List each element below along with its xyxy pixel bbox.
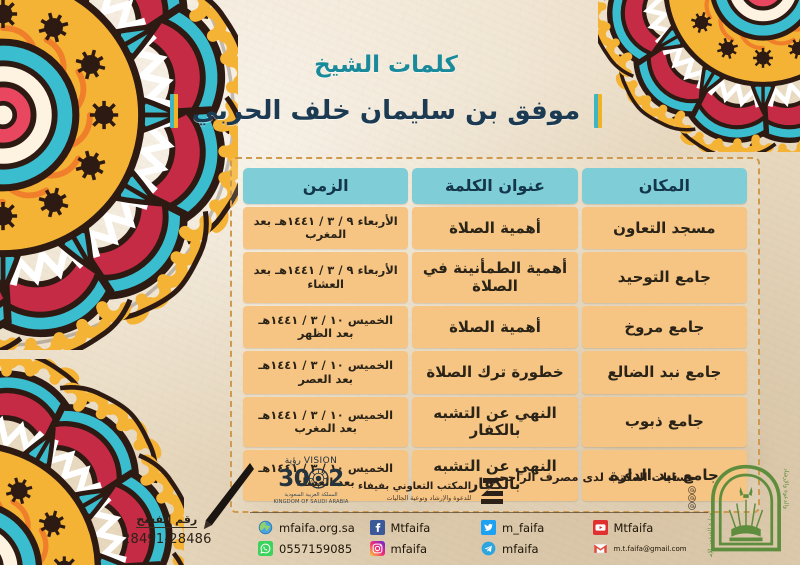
vision-arabic: رؤية xyxy=(285,456,301,466)
whatsapp-icon xyxy=(258,541,273,556)
cell-topic: خطورة ترك الصلاة xyxy=(412,351,577,393)
bank-accounts-block: حسابات المكتب لدى مصرف الراجحي xyxy=(488,470,696,510)
cell-place: جامع التوحيد xyxy=(582,252,747,303)
sheikh-name-row: موفق بن سليمان خلف الحربي xyxy=(0,94,772,128)
gmail-icon xyxy=(593,541,608,556)
social-link-whatsapp[interactable]: 0557159085 xyxy=(258,541,370,556)
social-handle: mfaifa.org.sa xyxy=(279,521,355,535)
footer-divider xyxy=(250,512,708,513)
ministry-of-islamic-affairs-logo: وزارة الشؤون الإسلامية والدعوة والإرشاد xyxy=(700,461,792,557)
vision-2030-logo: VISION رؤية 2 30 xyxy=(268,456,354,507)
bank-account-row xyxy=(488,486,696,494)
table-row: جامع التوحيدأهمية الطمأنينة في الصلاةالأ… xyxy=(243,252,747,303)
vision-emblem-icon xyxy=(308,468,329,489)
vision-kingdom-caption: المملكة العربية السعودية KINGDOM OF SAUD… xyxy=(268,492,354,507)
table-row: مسجد التعاونأهمية الصلاةالأربعاء ٩ / ٣ /… xyxy=(243,207,747,249)
cell-time: الخميس ١٠ / ٣ / ١٤٤١هـ بعد العصر xyxy=(243,351,408,393)
office-description: للدعوة والإرشاد وتوعية الجاليات xyxy=(358,494,471,502)
table-header-row: المكان عنوان الكلمة الزمن xyxy=(243,168,747,204)
cell-time: الأربعاء ٩ / ٣ / ١٤٤١هـ بعد العشاء xyxy=(243,252,408,303)
column-header-place: المكان xyxy=(582,168,747,204)
social-handle: Mtfaifa xyxy=(614,521,654,535)
vision-year-30: 30 xyxy=(278,466,309,492)
social-handle: mfaifa xyxy=(391,542,428,556)
social-link-youtube[interactable]: Mtfaifa xyxy=(593,520,705,535)
cell-time: الأربعاء ٩ / ٣ / ١٤٤١هـ بعد المغرب xyxy=(243,207,408,249)
cell-topic: أهمية الصلاة xyxy=(412,207,577,249)
cell-time: الخميس ١٠ / ٣ / ١٤٤١هـ بعد المغرب xyxy=(243,397,408,448)
social-handle: m_faifa xyxy=(502,521,544,535)
social-links-grid: mfaifa.org.saMtfaifam_faifaMtfaifa055715… xyxy=(258,517,704,559)
vision-kingdom-ar: المملكة العربية السعودية xyxy=(268,492,354,500)
vision-wordmark: VISION رؤية xyxy=(268,456,354,466)
instagram-icon xyxy=(370,541,385,556)
at-sign-icon xyxy=(688,502,696,510)
social-link-gmail[interactable]: m.t.faifa@gmail.com xyxy=(593,541,705,556)
poster-footer: VISION رؤية 2 30 xyxy=(0,453,800,565)
social-link-facebook[interactable]: Mtfaifa xyxy=(370,520,482,535)
bank-account-row xyxy=(488,494,696,502)
social-handle: 0557159085 xyxy=(279,542,352,556)
poster-header: كلمات الشيخ موفق بن سليمان خلف الحربي xyxy=(0,52,800,128)
page-title: موفق بن سليمان خلف الحربي xyxy=(192,96,580,126)
cell-place: جامع مروخ xyxy=(582,306,747,348)
office-text: المكتب التعاوني بفيفاء للدعوة والإرشاد و… xyxy=(358,481,471,502)
at-sign-icon xyxy=(688,494,696,502)
bank-accounts-title: حسابات المكتب لدى مصرف الراجحي xyxy=(488,470,696,484)
facebook-icon xyxy=(370,520,385,535)
social-link-telegram[interactable]: mfaifa xyxy=(481,541,593,556)
cell-place: جامع نبد الضالع xyxy=(582,351,747,393)
vision-year: 2 30 xyxy=(268,466,354,492)
poster-canvas: كلمات الشيخ موفق بن سليمان خلف الحربي ال… xyxy=(0,0,800,565)
page-kicker: كلمات الشيخ xyxy=(0,52,772,78)
vision-latin: VISION xyxy=(304,456,337,466)
office-name: المكتب التعاوني بفيفاء xyxy=(358,481,471,492)
svg-text:وزارة الشؤون الإسلامية: وزارة الشؤون الإسلامية xyxy=(708,513,714,557)
column-header-time: الزمن xyxy=(243,168,408,204)
cell-topic: أهمية الطمأنينة في الصلاة xyxy=(412,252,577,303)
table-row: جامع مروخأهمية الصلاةالخميس ١٠ / ٣ / ١٤٤… xyxy=(243,306,747,348)
title-accent-bar-right xyxy=(594,94,602,128)
vision-kingdom-en: KINGDOM OF SAUDI ARABIA xyxy=(268,499,354,507)
telegram-icon xyxy=(481,541,496,556)
social-handle: mfaifa xyxy=(502,542,539,556)
bank-account-row xyxy=(488,502,696,510)
cell-time: الخميس ١٠ / ٣ / ١٤٤١هـ بعد الظهر xyxy=(243,306,408,348)
permit-label: رقم الفسح xyxy=(136,513,197,528)
title-accent-bar-left xyxy=(170,94,178,128)
at-sign-icon xyxy=(688,486,696,494)
pen-icon xyxy=(198,463,254,537)
bank-accounts-list xyxy=(488,486,696,510)
twitter-icon xyxy=(481,520,496,535)
cooperative-office-logo: المكتب التعاوني بفيفاء للدعوة والإرشاد و… xyxy=(358,475,507,507)
table-row: جامع نبد الضالعخطورة ترك الصلاةالخميس ١٠… xyxy=(243,351,747,393)
social-handle: Mtfaifa xyxy=(391,521,431,535)
cell-place: جامع ذبوب xyxy=(582,397,747,448)
svg-text:والدعوة والإرشاد: والدعوة والإرشاد xyxy=(783,468,789,509)
social-handle: m.t.faifa@gmail.com xyxy=(614,545,687,553)
vision-year-2: 2 xyxy=(328,466,344,492)
cell-place: مسجد التعاون xyxy=(582,207,747,249)
youtube-icon xyxy=(593,520,608,535)
browser-icon xyxy=(258,520,273,535)
column-header-topic: عنوان الكلمة xyxy=(412,168,577,204)
social-link-instagram[interactable]: mfaifa xyxy=(370,541,482,556)
cell-topic: أهمية الصلاة xyxy=(412,306,577,348)
cell-topic: النهي عن التشبه بالكفار xyxy=(412,397,577,448)
social-link-twitter[interactable]: m_faifa xyxy=(481,520,593,535)
social-link-browser[interactable]: mfaifa.org.sa xyxy=(258,520,370,535)
table-row: جامع ذبوبالنهي عن التشبه بالكفارالخميس ١… xyxy=(243,397,747,448)
